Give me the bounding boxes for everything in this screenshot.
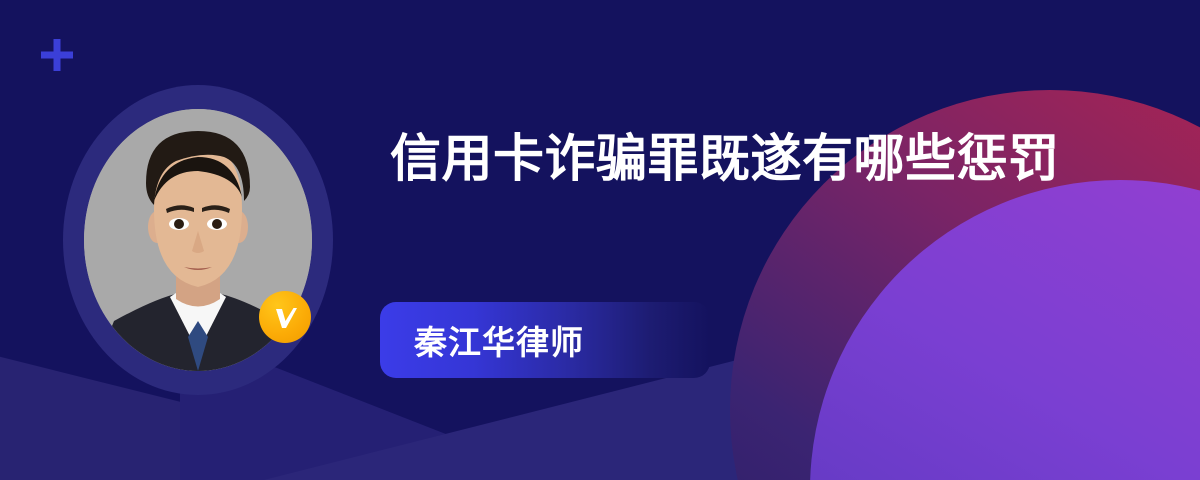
lawyer-name-button[interactable]: 秦江华律师	[380, 302, 710, 378]
avatar	[63, 85, 333, 395]
verified-badge	[259, 291, 311, 343]
lawyer-name-label: 秦江华律师	[414, 316, 584, 364]
plus-icon	[40, 38, 74, 72]
headline-block: 信用卡诈骗罪既遂有哪些惩罚	[390, 126, 1090, 191]
page-title: 信用卡诈骗罪既遂有哪些惩罚	[390, 126, 1090, 191]
background-arc-inner	[810, 180, 1200, 480]
promo-banner: 信用卡诈骗罪既遂有哪些惩罚 秦江华律师	[0, 0, 1200, 480]
